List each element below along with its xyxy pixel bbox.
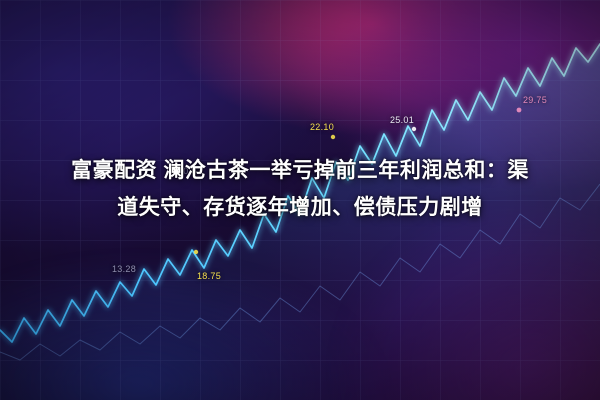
headline-text: 富豪配资 澜沧古茶一举亏掉前三年利润总和：渠 道失守、存货逐年增加、偿债压力剧增 [0, 152, 600, 226]
promo-banner: 10.07 13.28 18.75 22.10 25.01 29.75 富豪配资… [0, 0, 600, 400]
headline-line-1: 富豪配资 澜沧古茶一举亏掉前三年利润总和：渠 [16, 152, 584, 189]
headline-line-2: 道失守、存货逐年增加、偿债压力剧增 [16, 189, 584, 226]
